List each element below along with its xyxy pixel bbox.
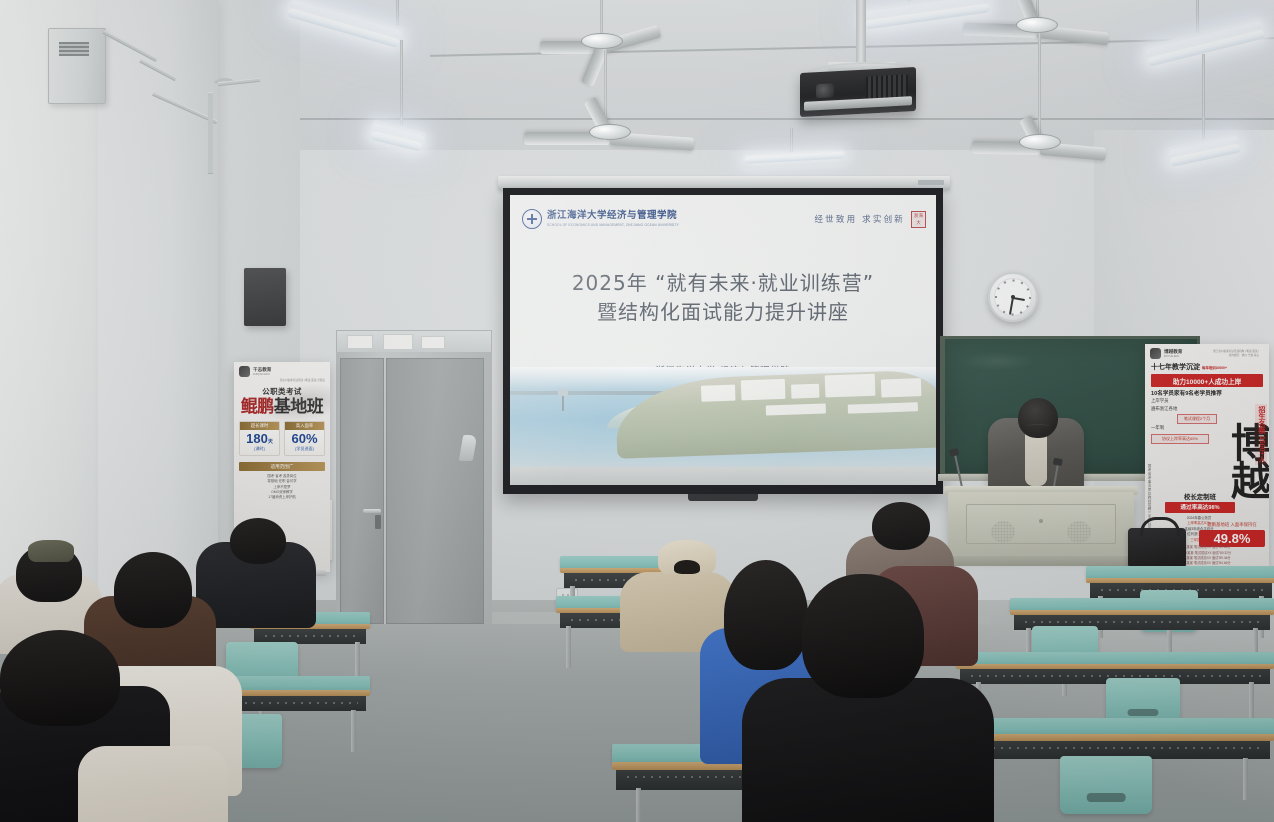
student-head (872, 502, 930, 550)
electrical-box (48, 28, 106, 104)
transom-notice (347, 335, 373, 349)
university-seal-icon (522, 209, 542, 229)
microphone-head (1053, 458, 1063, 466)
banner-small-line: 遍布浙江各地 (1145, 405, 1269, 413)
brand-subtitle: BOYUE EDU (1164, 355, 1182, 358)
slide-surface: 浙江海洋大学经济与管理学院 SCHOOL OF ECONOMICS AND MA… (510, 195, 936, 485)
brand-logo-icon (239, 366, 250, 377)
lectern-speaker-grille (991, 521, 1015, 543)
conduit-pipe (208, 92, 213, 174)
student-head (230, 518, 286, 564)
chair-handle-slot (1127, 709, 1158, 717)
campus-building (825, 374, 876, 398)
student-torso (742, 678, 994, 822)
stat-unit: [课时] (240, 446, 279, 452)
channel-marker (562, 393, 564, 411)
fan-hub (581, 33, 623, 49)
projector-trim (804, 96, 912, 111)
brand-name: 千志教育 (253, 367, 271, 372)
chair-back (1060, 756, 1152, 814)
brand-subtitle: ZHIQIAN EDU (253, 373, 271, 376)
campus-building (741, 379, 786, 401)
desk-leg (351, 710, 356, 752)
clock-face (994, 278, 1032, 316)
door-handle[interactable] (363, 509, 381, 513)
banner-stat: 高入面率 60% [学员进面] (284, 421, 325, 456)
desk-leg (636, 788, 641, 822)
banner-vertical-right: 招生名额 1500+人 (1255, 404, 1267, 465)
slide-campus-photo (510, 367, 936, 467)
banner-scope-label: 适用范围广 (239, 462, 325, 471)
banner-top-note: 浙江省公职类考试培训机构 | 笔试·面试 | 省内校区：杭州·宁波·舟山 (1185, 350, 1264, 357)
light-rod (1196, 0, 1199, 36)
door-leaf-narrow[interactable] (340, 358, 384, 624)
campus-building (701, 385, 736, 402)
door-lock[interactable] (375, 515, 381, 529)
banner-custom-class: 校长定制班 (1167, 492, 1233, 501)
ceiling-fan (520, 120, 700, 144)
lectern-base (952, 556, 1130, 566)
banner-pass-rate: 通过率高达98% (1165, 502, 1235, 513)
handbag (1128, 528, 1186, 570)
vent-grille (59, 42, 89, 56)
student-hair (0, 630, 120, 726)
university-name: 浙江海洋大学经济与管理学院 (547, 211, 679, 221)
fan-hub (589, 124, 631, 140)
slide-title-line1: 2025年 “就有未来·就业训练营” (510, 269, 936, 298)
wall-clock (988, 272, 1038, 322)
fan-rod (600, 0, 603, 34)
fan-hub (1016, 17, 1058, 33)
presenter-head (1018, 398, 1058, 438)
projection-screen: 浙江海洋大学经济与管理学院 SCHOOL OF ECONOMICS AND MA… (503, 188, 943, 494)
stat-unit: [学员进面] (285, 446, 324, 452)
screen-weight-bar (688, 494, 758, 501)
projector-mount (856, 0, 866, 66)
student-head (802, 574, 924, 698)
light-rod (400, 40, 403, 132)
student-cap (28, 540, 74, 562)
fan-hub (1019, 134, 1061, 150)
banner-brand: 博越教育 BOYUE EDU 浙江省公职类考试培训机构 | 笔试·面试 | 省内… (1145, 344, 1269, 361)
chalk-smudge (960, 352, 1036, 371)
student-torso (78, 746, 228, 822)
door-closer (459, 435, 478, 461)
classroom-door[interactable] (336, 352, 492, 624)
banner-feature-list: 国考·省考 各类岗位 零基础·在职 皆可学 上岸不是梦 OMO双师教学 17届师… (234, 471, 330, 500)
classroom-photo: 浙江海洋大学经济与管理学院 SCHOOL OF ECONOMICS AND MA… (0, 0, 1274, 822)
stat-value: 60% (285, 432, 324, 445)
banner-subline: 10名学员家有9名老学员推荐 (1145, 387, 1269, 397)
clock-center-pin (1011, 295, 1015, 299)
stat-value: 180天 (240, 432, 279, 445)
university-logo: 浙江海洋大学经济与管理学院 SCHOOL OF ECONOMICS AND MA… (522, 209, 679, 229)
slide-header: 浙江海洋大学经济与管理学院 SCHOOL OF ECONOMICS AND MA… (510, 205, 936, 233)
cap-opening (674, 560, 700, 574)
slide-title-line2: 暨结构化面试能力提升讲座 (510, 298, 936, 327)
student-hair (114, 552, 192, 628)
lectern-knob[interactable] (1039, 519, 1043, 523)
lectern-speaker-grille (1067, 521, 1091, 543)
door-leaf-wide[interactable] (386, 358, 484, 624)
desk-leg (566, 626, 571, 668)
teacher-lectern (948, 492, 1134, 556)
door-transom (336, 330, 492, 354)
campus-building (848, 402, 918, 413)
slide-motto: 经世致用 求实创新 (814, 213, 905, 225)
ceiling-fan (540, 30, 664, 52)
banner-brand: 千志教育 ZHIQIAN EDU (234, 362, 330, 379)
brand-logo-icon (1150, 348, 1161, 359)
banner-pink-note: 笔试课程2个月 (1177, 414, 1217, 424)
projector-lens (816, 83, 834, 98)
banner-small-line: 上岸学员 (1145, 397, 1269, 405)
banner-headline-note: 每年培训10000+ (1202, 366, 1227, 370)
banner-red-bar: 助力10000+人成功上岸 (1151, 374, 1263, 387)
slide-motto-block: 经世致用 求实创新 浙海大 (814, 211, 926, 228)
fan-rod (604, 50, 607, 124)
projector-vent (866, 74, 908, 98)
ceiling-projector (800, 67, 916, 117)
presenter-glasses (1026, 424, 1050, 429)
fan-rod (1038, 32, 1041, 136)
student-chair (1060, 756, 1152, 814)
campus-island (615, 369, 936, 458)
university-name-block: 浙江海洋大学经济与管理学院 SCHOOL OF ECONOMICS AND MA… (547, 211, 679, 226)
campus-building (766, 403, 826, 415)
banner-rate-label: 鲲鹏基地班 入面率保持在 (1201, 522, 1263, 528)
brand-name: 博越教育 (1164, 349, 1182, 354)
red-seal-icon: 浙海大 (911, 211, 926, 228)
slide-title: 2025年 “就有未来·就业训练营” 暨结构化面试能力提升讲座 (510, 269, 936, 327)
banner-headline: 十七年教学沉淀 每年培训10000+ (1145, 361, 1269, 372)
banner-feature-item: 17届师资上岸护航 (240, 495, 324, 500)
chair-handle-slot (1087, 793, 1126, 802)
banner-pink-note: 协议上岸率高达65% (1151, 434, 1209, 444)
ceiling-fan (970, 132, 1110, 152)
lectern-panel (966, 504, 1116, 544)
student-hair (724, 560, 808, 670)
transom-notice (421, 336, 445, 349)
screen-brand-label (918, 180, 944, 185)
light-rod (1202, 54, 1205, 144)
slide-bottom-bar (510, 467, 936, 485)
campus-building (881, 378, 922, 397)
campus-building (791, 384, 819, 399)
university-name-en: SCHOOL OF ECONOMICS AND MANAGEMENT, ZHEJ… (547, 223, 679, 227)
transom-notice (383, 334, 413, 350)
desk-leg (1243, 758, 1248, 800)
wall-speaker (244, 268, 286, 326)
